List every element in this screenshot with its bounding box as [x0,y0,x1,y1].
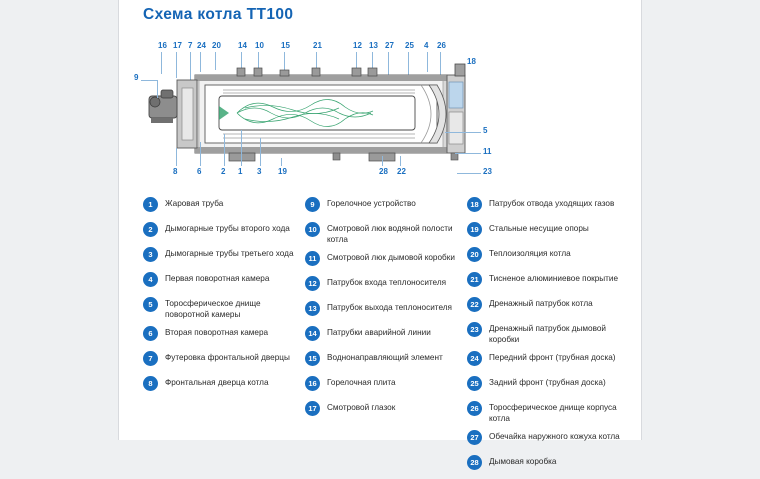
legend-number: 28 [467,455,482,470]
leader-line [400,156,401,166]
legend-number: 1 [143,197,158,212]
legend-number: 15 [305,351,320,366]
list-item: 12Патрубок входа теплоносителя [305,275,465,295]
legend-label: Горелочная плита [327,375,396,388]
leader-line [176,148,177,166]
legend-label: Жаровая труба [165,196,223,209]
callout-number: 23 [483,168,492,176]
legend-label: Дымовая коробка [489,454,556,467]
legend-number: 13 [305,301,320,316]
callout-number: 6 [197,168,201,176]
list-item: 1Жаровая труба [143,196,303,216]
legend-label: Дренажный патрубок котла [489,296,593,309]
legend-number: 2 [143,222,158,237]
callout-number: 2 [221,168,225,176]
legend-number: 21 [467,272,482,287]
legend-number: 8 [143,376,158,391]
legend-label: Смотровой люк дымовой коробки [327,250,455,263]
legend-number: 5 [143,297,158,312]
list-item: 24Передний фронт (трубная доска) [467,350,627,370]
list-item: 16Горелочная плита [305,375,465,395]
legend-number: 6 [143,326,158,341]
legend-label: Фронтальная дверца котла [165,375,269,388]
legend-label: Дымогарные трубы второго хода [165,221,290,234]
legend-label: Патрубок отвода уходящих газов [489,196,614,209]
list-item: 8Фронтальная дверца котла [143,375,303,395]
leader-line [200,142,201,166]
list-item: 26Торосферическое днище корпуса котла [467,400,627,424]
legend-number: 16 [305,376,320,391]
legend-number: 18 [467,197,482,212]
callout-number: 11 [483,148,491,156]
list-item: 23Дренажный патрубок дымовой коробки [467,321,627,345]
legend-number: 12 [305,276,320,291]
legend-number: 19 [467,222,482,237]
legend-number: 9 [305,197,320,212]
boiler-cross-section [133,30,633,190]
legend-column-2: 9Горелочное устройство 10Смотровой люк в… [305,196,465,425]
list-item: 19Стальные несущие опоры [467,221,627,241]
legend-number: 26 [467,401,482,416]
legend-number: 7 [143,351,158,366]
legend-number: 24 [467,351,482,366]
legend-label: Обечайка наружного кожуха котла [489,429,620,442]
legend-label: Смотровой люк водяной полости котла [327,221,465,245]
legend-number: 3 [143,247,158,262]
legend-number: 17 [305,401,320,416]
list-item: 7Футеровка фронтальной дверцы [143,350,303,370]
legend-label: Патрубок входа теплоносителя [327,275,446,288]
page-canvas: Схема котла ТТ100 16 17 7 24 20 14 10 15… [118,0,642,440]
legend-number: 27 [467,430,482,445]
legend-label: Передний фронт (трубная доска) [489,350,616,363]
leader-line [157,80,158,98]
leader-line [455,153,481,154]
legend-label: Дренажный патрубок дымовой коробки [489,321,627,345]
legend-number: 4 [143,272,158,287]
legend-label: Стальные несущие опоры [489,221,589,234]
list-item: 13Патрубок выхода теплоносителя [305,300,465,320]
legend-number: 22 [467,297,482,312]
callout-number: 28 [379,168,388,176]
list-item: 17Смотровой глазок [305,400,465,420]
legend-label: Вторая поворотная камера [165,325,268,338]
page-title: Схема котла ТТ100 [143,6,293,24]
legend-label: Смотровой глазок [327,400,395,413]
legend: 1Жаровая труба 2Дымогарные трубы второго… [133,196,633,434]
leader-line [445,132,481,133]
legend-label: Торосферическое днище корпуса котла [489,400,627,424]
leader-line [224,134,225,166]
legend-column-1: 1Жаровая труба 2Дымогарные трубы второго… [143,196,303,400]
callout-number: 22 [397,168,406,176]
list-item: 20Теплоизоляция котла [467,246,627,266]
list-item: 11Смотровой люк дымовой коробки [305,250,465,270]
legend-number: 11 [305,251,320,266]
legend-number: 25 [467,376,482,391]
list-item: 9Горелочное устройство [305,196,465,216]
legend-number: 14 [305,326,320,341]
list-item: 10Смотровой люк водяной полости котла [305,221,465,245]
list-item: 15Воднонаправляющий элемент [305,350,465,370]
legend-label: Первая поворотная камера [165,271,269,284]
legend-number: 10 [305,222,320,237]
legend-label: Патрубки аварийной линии [327,325,431,338]
list-item: 28Дымовая коробка [467,454,627,474]
legend-label: Футеровка фронтальной дверцы [165,350,290,363]
list-item: 22Дренажный патрубок котла [467,296,627,316]
leader-line [281,158,282,166]
legend-label: Дымогарные трубы третьего хода [165,246,294,259]
leader-line [260,138,261,166]
callout-number: 9 [134,74,138,82]
callout-number: 19 [278,168,287,176]
callout-number: 18 [467,58,476,66]
legend-number: 20 [467,247,482,262]
list-item: 5Торосферическое днище поворотной камеры [143,296,303,320]
list-item: 27Обечайка наружного кожуха котла [467,429,627,449]
callout-number: 3 [257,168,261,176]
leader-line [382,156,383,166]
legend-label: Горелочное устройство [327,196,416,209]
legend-label: Теплоизоляция котла [489,246,571,259]
legend-label: Патрубок выхода теплоносителя [327,300,452,313]
list-item: 14Патрубки аварийной линии [305,325,465,345]
legend-label: Торосферическое днище поворотной камеры [165,296,303,320]
callout-number: 8 [173,168,177,176]
legend-label: Воднонаправляющий элемент [327,350,443,363]
list-item: 21Тисненое алюминиевое покрытие [467,271,627,291]
list-item: 18Патрубок отвода уходящих газов [467,196,627,216]
list-item: 3Дымогарные трубы третьего хода [143,246,303,266]
legend-number: 23 [467,322,482,337]
list-item: 6Вторая поворотная камера [143,325,303,345]
leader-line [241,130,242,166]
callout-number: 5 [483,127,487,135]
leader-line [141,80,157,81]
legend-label: Задний фронт (трубная доска) [489,375,606,388]
legend-column-3: 18Патрубок отвода уходящих газов 19Сталь… [467,196,627,479]
legend-label: Тисненое алюминиевое покрытие [489,271,618,284]
list-item: 25Задний фронт (трубная доска) [467,375,627,395]
leader-line [457,173,481,174]
list-item: 4Первая поворотная камера [143,271,303,291]
boiler-diagram: 16 17 7 24 20 14 10 15 21 12 13 27 25 4 … [133,30,633,190]
callout-number: 1 [238,168,242,176]
list-item: 2Дымогарные трубы второго хода [143,221,303,241]
